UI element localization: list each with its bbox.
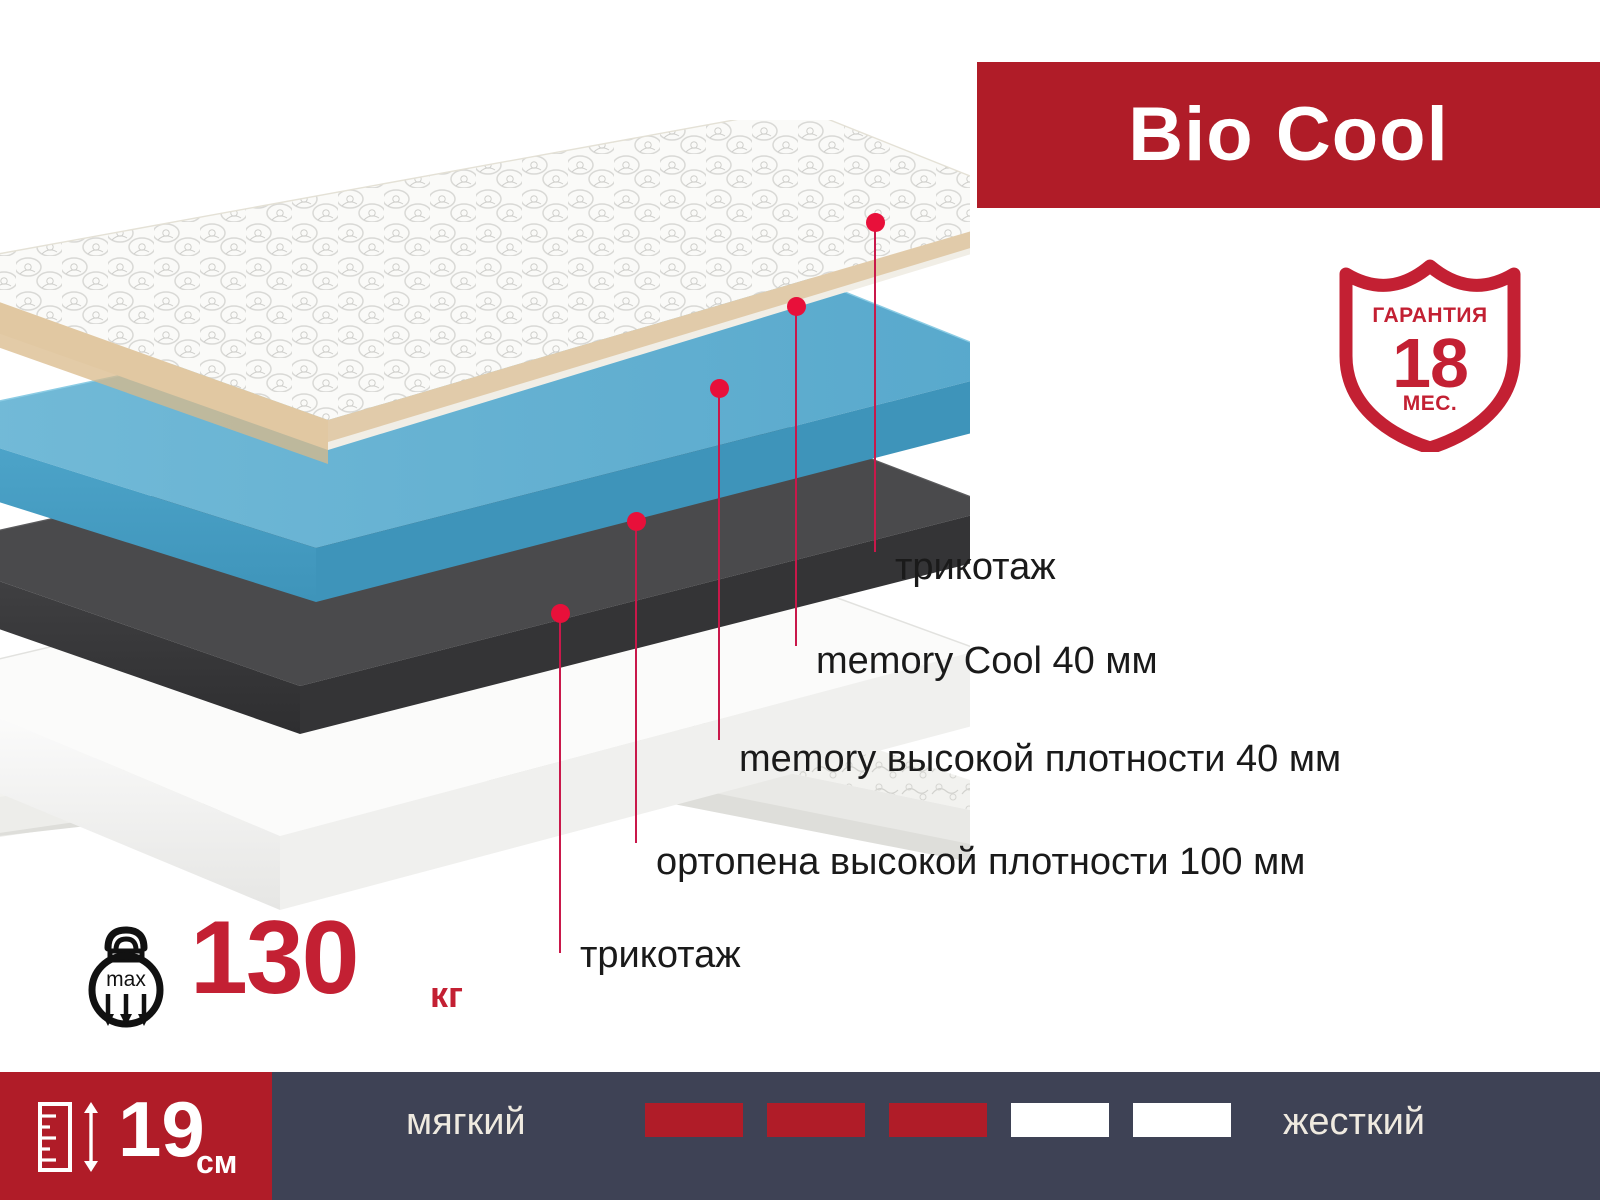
callout-label-memory-cool: memory Cool 40 мм — [816, 640, 1158, 683]
ruler-height-icon — [34, 1098, 120, 1176]
callout-label-knit-bottom: трикотаж — [580, 934, 741, 977]
mattress-layer-diagram — [0, 120, 970, 920]
callout-line-knit-top — [874, 222, 876, 552]
firmness-firm-label: жесткий — [1283, 1101, 1425, 1144]
max-weight-value: 130 — [190, 906, 358, 1010]
callout-dot-memory-high-density — [710, 379, 729, 398]
warranty-badge: ГАРАНТИЯ 18 МЕС. — [1332, 252, 1528, 452]
firmness-segment-1 — [645, 1103, 743, 1137]
callout-label-knit-top: трикотаж — [895, 546, 1056, 589]
callout-line-memory-high-density — [718, 388, 720, 740]
firmness-segment-4 — [1011, 1103, 1109, 1137]
height-unit: см — [196, 1144, 237, 1181]
product-title-banner: Bio Cool — [977, 62, 1600, 208]
callout-line-knit-bottom — [559, 613, 561, 953]
firmness-segment-2 — [767, 1103, 865, 1137]
callout-label-ortopena-high-density: ортопена высокой плотности 100 мм — [656, 841, 1305, 884]
callout-dot-ortopena-high-density — [627, 512, 646, 531]
callout-line-memory-cool — [795, 306, 797, 646]
max-weight-block: max 130 кг — [72, 912, 492, 1032]
callout-dot-knit-top — [866, 213, 885, 232]
infographic-canvas: Bio Cool ГАРАНТИЯ 18 МЕС. трикотажmemory… — [0, 0, 1600, 1200]
page-title: Bio Cool — [1128, 97, 1448, 173]
warranty-value: 18 — [1332, 328, 1528, 398]
height-block: 19 см — [0, 1072, 272, 1200]
callout-label-memory-high-density: memory высокой плотности 40 мм — [739, 738, 1341, 781]
callout-line-ortopena-high-density — [635, 521, 637, 843]
callout-dot-knit-bottom — [551, 604, 570, 623]
warranty-unit: МЕС. — [1332, 392, 1528, 416]
svg-text:max: max — [106, 968, 146, 991]
firmness-segment-5 — [1133, 1103, 1231, 1137]
max-weight-unit: кг — [430, 974, 463, 1016]
firmness-soft-label: мягкий — [406, 1101, 526, 1144]
callout-dot-memory-cool — [787, 297, 806, 316]
kettlebell-max-icon: max — [72, 918, 180, 1030]
height-value: 19 — [118, 1090, 205, 1168]
firmness-segment-3 — [889, 1103, 987, 1137]
